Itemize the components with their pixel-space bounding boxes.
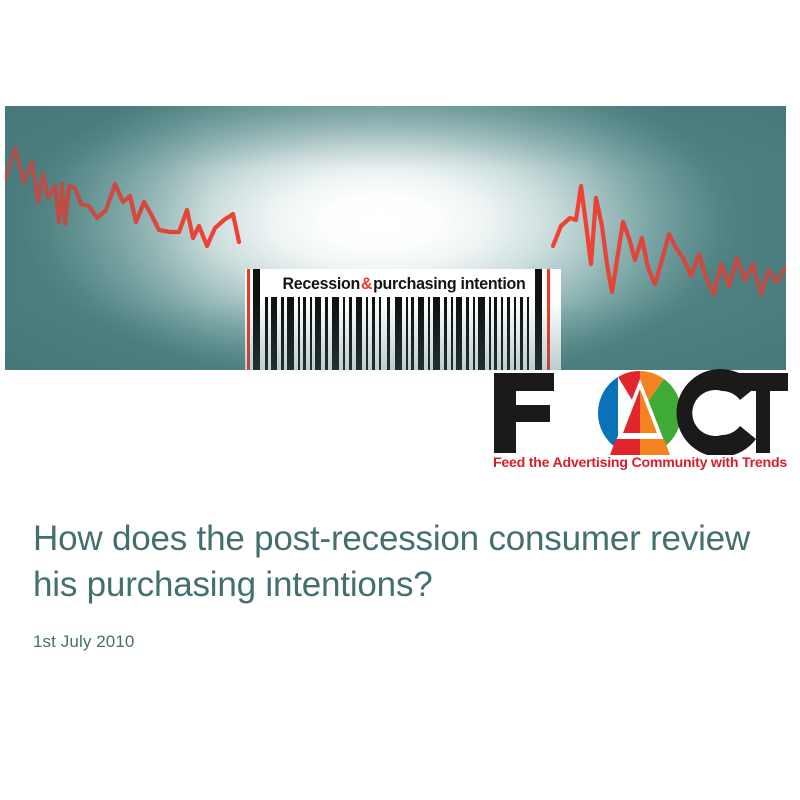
barcode-label-suffix: purchasing intention — [373, 274, 525, 294]
title-block: How does the post-recession consumer rev… — [33, 516, 753, 652]
page-title: How does the post-recession consumer rev… — [33, 516, 753, 608]
barcode-label-ampersand: & — [360, 274, 373, 294]
trend-line-right — [553, 186, 786, 294]
logo-letter-a-pie-icon — [598, 371, 681, 455]
logo-letter-f-icon — [494, 373, 554, 453]
fact-logo-mark — [492, 369, 788, 455]
barcode-label: Recession & purchasing intention — [271, 271, 536, 297]
slide-date: 1st July 2010 — [33, 632, 753, 652]
slide-canvas: Recession & purchasing intention — [0, 0, 800, 800]
fact-logo: Feed the Advertising Community with Tren… — [492, 369, 788, 479]
barcode-label-prefix: Recession — [283, 274, 360, 294]
trend-line-left — [5, 148, 239, 246]
barcode-graphic: Recession & purchasing intention — [245, 269, 561, 370]
fact-logo-tagline: Feed the Advertising Community with Tren… — [492, 455, 788, 471]
hero-banner: Recession & purchasing intention — [5, 106, 786, 370]
